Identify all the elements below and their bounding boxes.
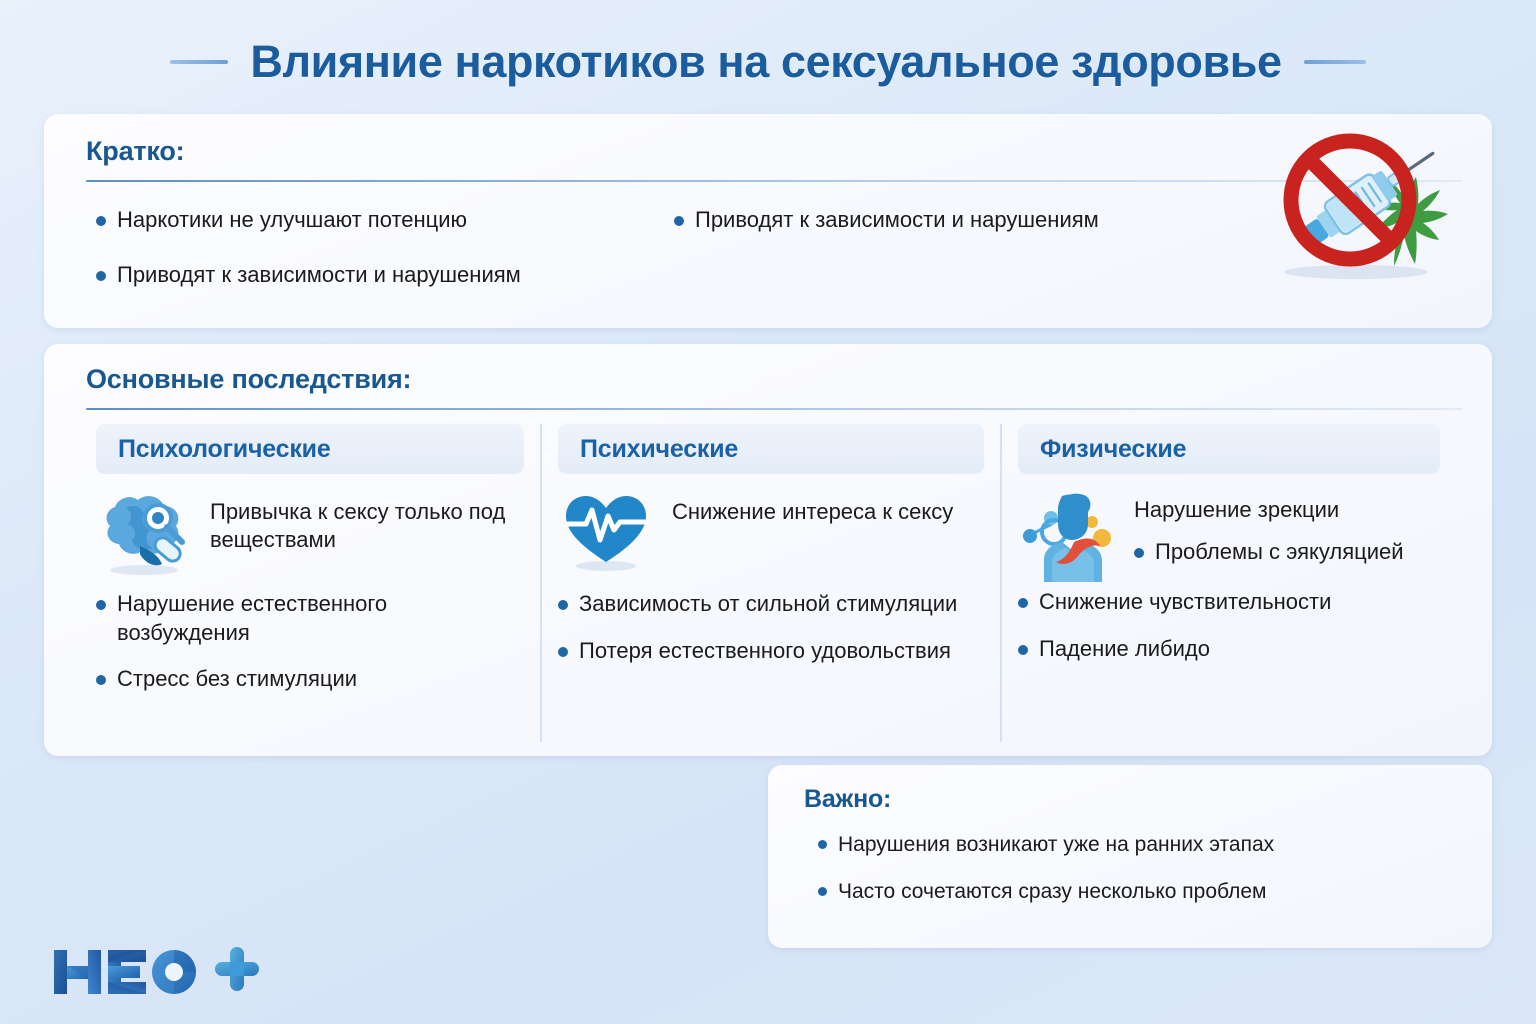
page-title: Влияние наркотиков на сексуальное здоров…: [250, 36, 1281, 88]
list-item: Нарушения возникают уже на ранних этапах: [818, 831, 1458, 858]
list-item: Наркотики не улучшают потенцию: [96, 206, 656, 235]
bullet-dot-icon: [674, 216, 684, 226]
list-item: Приводят к зависимости и нарушениям: [96, 261, 656, 290]
bullet-label: Нарушение естественного возбуждения: [117, 590, 524, 647]
column-header-physical: Физические: [1018, 424, 1440, 474]
important-bullets: Нарушения возникают уже на ранних этапах…: [818, 831, 1458, 926]
brief-card-divider: [86, 180, 1462, 182]
bullet-dot-icon: [558, 600, 568, 610]
neo-plus-logo: [52, 944, 262, 1000]
bullet-dot-icon: [96, 675, 106, 685]
main-card-heading: Основные последствия:: [86, 364, 411, 395]
list-item: Часто сочетаются сразу несколько проблем: [818, 878, 1458, 905]
list-item: Приводят к зависимости и нарушениям: [674, 206, 1234, 235]
brief-bullets-left: Наркотики не улучшают потенцию Приводят …: [96, 206, 656, 315]
bullet-label: Падение либидо: [1039, 635, 1210, 664]
bullet-dot-icon: [96, 216, 106, 226]
bullet-label: Часто сочетаются сразу несколько проблем: [838, 878, 1266, 905]
list-item: Нарушение естественного возбуждения: [96, 590, 524, 647]
brief-card: Кратко: Наркотики не улучшают потенцию П…: [44, 114, 1492, 328]
no-drugs-icon: [1264, 132, 1454, 282]
main-consequences-card: Основные последствия: Психологические: [44, 344, 1492, 756]
list-item: Зависимость от сильной стимуляции: [558, 590, 984, 619]
consequences-columns: Психологические Прив: [80, 424, 1456, 742]
column-mental: Психические Снижение интереса к сексу За…: [540, 424, 1002, 742]
bullet-dot-icon: [1018, 598, 1028, 608]
brain-icon: [96, 490, 196, 576]
column-title: Психологические: [118, 435, 331, 464]
important-card-heading: Важно:: [804, 785, 891, 814]
column-psychological: Психологические Прив: [80, 424, 540, 742]
bullet-dot-icon: [818, 887, 827, 896]
column-lead-psychological: Привычка к сексу только под веществами: [96, 490, 524, 576]
title-dash-right-icon: [1304, 60, 1366, 64]
infographic-poster: Влияние наркотиков на сексуальное здоров…: [0, 0, 1536, 1024]
column-lead-mental: Снижение интереса к сексу: [558, 490, 984, 576]
column-header-psychological: Психологические: [96, 424, 524, 474]
list-item: Снижение чувствительности: [1018, 588, 1440, 617]
main-card-divider: [86, 408, 1462, 410]
heart-pulse-icon: [558, 490, 658, 576]
column-lead-text: Привычка к сексу только под веществами: [210, 490, 524, 554]
male-body-icon: [1018, 490, 1122, 586]
bullet-label: Зависимость от сильной стимуляции: [579, 590, 957, 619]
column-title: Психические: [580, 435, 738, 464]
bullet-dot-icon: [818, 840, 827, 849]
bullet-dot-icon: [96, 600, 106, 610]
bullet-label: Стресс без стимуляции: [117, 665, 357, 694]
list-item: Потеря естественного удовольствия: [558, 637, 984, 666]
column-body-physical: Нарушение зрекции Проблемы с эякуляцией …: [1018, 490, 1440, 663]
list-item: Падение либидо: [1018, 635, 1440, 664]
title-dash-left-icon: [170, 60, 228, 64]
column-title: Физические: [1040, 435, 1186, 464]
bullet-dot-icon: [1134, 548, 1144, 558]
bullet-dot-icon: [1018, 645, 1028, 655]
brief-card-heading: Кратко:: [86, 136, 184, 167]
column-physical: Физические: [1002, 424, 1456, 742]
bullet-label: Приводят к зависимости и нарушениям: [695, 206, 1099, 235]
bullet-label: Проблемы с эякуляцией: [1155, 538, 1404, 567]
list-item: Стресс без стимуляции: [96, 665, 524, 694]
bullet-label: Нарушения возникают уже на ранних этапах: [838, 831, 1274, 858]
list-item: Проблемы с эякуляцией: [1134, 538, 1440, 567]
bullet-dot-icon: [96, 271, 106, 281]
column-lead-text: Снижение интереса к сексу: [672, 490, 953, 526]
poster-title-row: Влияние наркотиков на сексуальное здоров…: [0, 28, 1536, 96]
bullet-dot-icon: [558, 647, 568, 657]
brief-bullets-right: Приводят к зависимости и нарушениям: [674, 206, 1234, 261]
bullet-label: Снижение чувствительности: [1039, 588, 1331, 617]
bullet-label: Потеря естественного удовольствия: [579, 637, 951, 666]
important-card: Важно: Нарушения возникают уже на ранних…: [768, 765, 1492, 948]
bullet-label: Наркотики не улучшают потенцию: [117, 206, 467, 235]
bullet-label: Приводят к зависимости и нарушениям: [117, 261, 521, 290]
column-header-mental: Психические: [558, 424, 984, 474]
